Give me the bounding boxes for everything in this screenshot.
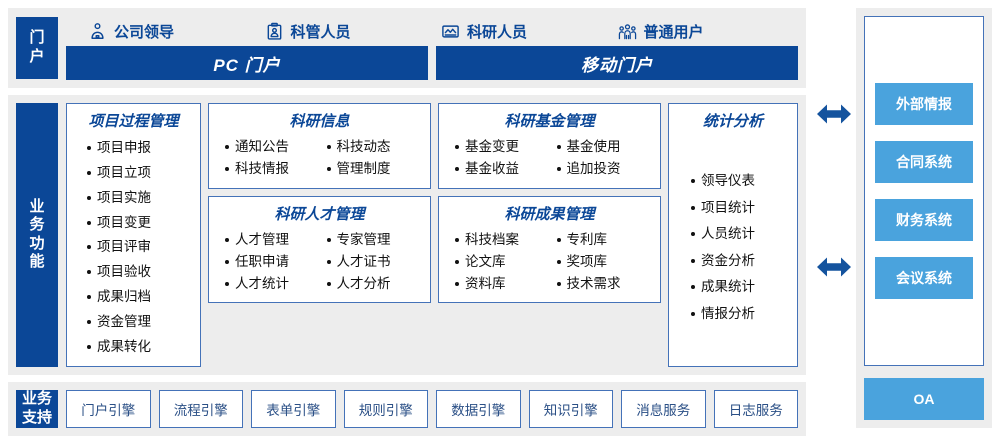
- list-item-label: 基金使用: [567, 137, 621, 157]
- external-system-contract[interactable]: 合同系统: [875, 141, 973, 183]
- main-architecture-column: 门户 公司领导: [0, 0, 812, 436]
- bullet-icon: [87, 171, 91, 175]
- list-item[interactable]: 领导仪表: [691, 174, 791, 188]
- list-item[interactable]: 科技动态: [327, 137, 425, 157]
- portal-bar-mobile[interactable]: 移动门户: [436, 46, 798, 80]
- external-system-oa[interactable]: OA: [864, 378, 984, 420]
- list-item-label: 技术需求: [567, 274, 621, 294]
- card-project-process-management[interactable]: 项目过程管理 项目申报 项目立项 项目实施 项目变更 项目评审 项目验收 成果归…: [66, 103, 201, 367]
- connector-column: [812, 0, 856, 436]
- list-item-label: 追加投资: [567, 159, 621, 179]
- card-item-list: 通知公告 科技动态 科技情报 管理制度: [215, 137, 424, 180]
- role-general-user-label: 普通用户: [644, 21, 704, 42]
- list-item[interactable]: 奖项库: [557, 252, 655, 272]
- bullet-icon: [87, 221, 91, 225]
- external-systems-column: 外部情报 合同系统 财务系统 会议系统 OA: [856, 0, 1000, 436]
- list-item[interactable]: 人才分析: [327, 274, 425, 294]
- bullet-icon: [327, 282, 331, 286]
- list-item-label: 成果统计: [701, 280, 755, 294]
- role-research-admin[interactable]: 科管人员: [265, 21, 442, 42]
- business-support-band-label-text: 业务支持: [20, 390, 54, 427]
- external-systems-box: 外部情报 合同系统 财务系统 会议系统: [864, 16, 984, 366]
- list-item-label: 项目统计: [701, 201, 755, 215]
- bullet-icon: [557, 238, 561, 242]
- bullet-icon: [225, 282, 229, 286]
- list-item-label: 项目立项: [97, 162, 151, 184]
- bullet-icon: [225, 167, 229, 171]
- bullet-icon: [691, 312, 695, 316]
- list-item-label: 情报分析: [701, 307, 755, 321]
- card-statistical-analysis[interactable]: 统计分析 领导仪表 项目统计 人员统计 资金分析 成果统计 情报分析: [668, 103, 798, 367]
- role-company-leader[interactable]: 公司领导: [88, 21, 265, 42]
- function-column-info-talent: 科研信息 通知公告 科技动态 科技情报 管理制度 科研人才管理 人才管理 专家管…: [208, 103, 431, 367]
- list-item[interactable]: 项目申报: [87, 137, 194, 159]
- portal-bar-pc[interactable]: PC 门户: [66, 46, 428, 80]
- card-research-fund-management[interactable]: 科研基金管理 基金变更 基金使用 基金收益 追加投资: [438, 103, 661, 189]
- bullet-icon: [87, 320, 91, 324]
- service-message[interactable]: 消息服务: [621, 390, 706, 428]
- architecture-diagram: 门户 公司领导: [0, 0, 1000, 436]
- card-item-list: 人才管理 专家管理 任职申请 人才证书 人才统计 人才分析: [215, 230, 424, 295]
- portal-band-content: 公司领导 科管人员: [66, 16, 798, 80]
- service-log[interactable]: 日志服务: [714, 390, 799, 428]
- card-item-list: 项目申报 项目立项 项目实施 项目变更 项目评审 项目验收 成果归档 资金管理 …: [73, 137, 194, 358]
- list-item[interactable]: 技术需求: [557, 274, 655, 294]
- bullet-icon: [691, 285, 695, 289]
- business-function-band: 业务功能 项目过程管理 项目申报 项目立项 项目实施 项目变更 项目评审 项目验…: [8, 95, 806, 375]
- role-research-admin-label: 科管人员: [291, 21, 351, 42]
- list-item-label: 项目变更: [97, 212, 151, 234]
- role-researcher-label: 科研人员: [467, 21, 527, 42]
- user-bust-icon: [88, 22, 107, 41]
- list-item[interactable]: 人才统计: [225, 274, 323, 294]
- list-item-label: 成果归档: [97, 286, 151, 308]
- list-item-label: 项目实施: [97, 187, 151, 209]
- list-item-label: 科技动态: [337, 137, 391, 157]
- list-item-label: 管理制度: [337, 159, 391, 179]
- portal-bar-row: PC 门户 移动门户: [66, 46, 798, 80]
- double-arrow-horizontal-icon: [815, 101, 853, 127]
- bullet-icon: [327, 167, 331, 171]
- bullet-icon: [225, 145, 229, 149]
- list-item[interactable]: 人才证书: [327, 252, 425, 272]
- list-item[interactable]: 管理制度: [327, 159, 425, 179]
- external-system-meeting[interactable]: 会议系统: [875, 257, 973, 299]
- list-item-label: 资金分析: [701, 254, 755, 268]
- list-item-label: 人才统计: [235, 274, 289, 294]
- list-item[interactable]: 通知公告: [225, 137, 323, 157]
- business-function-band-label: 业务功能: [16, 103, 58, 367]
- double-arrow-horizontal-icon: [815, 254, 853, 280]
- portal-band: 门户 公司领导: [8, 8, 806, 88]
- bullet-icon: [691, 232, 695, 236]
- list-item-label: 人才分析: [337, 274, 391, 294]
- bullet-icon: [691, 259, 695, 263]
- list-item[interactable]: 成果归档: [87, 286, 194, 308]
- bullet-icon: [455, 145, 459, 149]
- business-support-content: 门户引擎 流程引擎 表单引擎 规则引擎 数据引擎 知识引擎 消息服务 日志服务: [66, 390, 798, 428]
- list-item-label: 人才证书: [337, 252, 391, 272]
- bullet-icon: [225, 238, 229, 242]
- list-item-label: 资料库: [465, 274, 506, 294]
- list-item[interactable]: 追加投资: [557, 159, 655, 179]
- engine-knowledge[interactable]: 知识引擎: [529, 390, 614, 428]
- card-item-list: 科技档案 专利库 论文库 奖项库 资料库 技术需求: [445, 230, 654, 295]
- list-item[interactable]: 基金使用: [557, 137, 655, 157]
- card-research-achievement-management[interactable]: 科研成果管理 科技档案 专利库 论文库 奖项库 资料库 技术需求: [438, 196, 661, 304]
- user-group-icon: [618, 22, 637, 41]
- list-item[interactable]: 项目验收: [87, 261, 194, 283]
- external-system-finance[interactable]: 财务系统: [875, 199, 973, 241]
- bullet-icon: [691, 179, 695, 183]
- list-item[interactable]: 成果转化: [87, 336, 194, 358]
- bullet-icon: [557, 167, 561, 171]
- list-item[interactable]: 项目统计: [691, 201, 791, 215]
- bullet-icon: [87, 196, 91, 200]
- role-general-user[interactable]: 普通用户: [618, 21, 795, 42]
- bullet-icon: [455, 282, 459, 286]
- bullet-icon: [327, 260, 331, 264]
- business-support-band: 业务支持 门户引擎 流程引擎 表单引擎 规则引擎 数据引擎 知识引擎 消息服务 …: [8, 382, 806, 436]
- list-item[interactable]: 项目评审: [87, 236, 194, 258]
- list-item-label: 项目评审: [97, 236, 151, 258]
- list-item[interactable]: 基金变更: [455, 137, 553, 157]
- business-function-content: 项目过程管理 项目申报 项目立项 项目实施 项目变更 项目评审 项目验收 成果归…: [66, 103, 798, 367]
- function-column-fund-result: 科研基金管理 基金变更 基金使用 基金收益 追加投资 科研成果管理 科技档案 专…: [438, 103, 661, 367]
- list-item-label: 成果转化: [97, 336, 151, 358]
- list-item[interactable]: 人才管理: [225, 230, 323, 250]
- bullet-icon: [455, 167, 459, 171]
- list-item[interactable]: 论文库: [455, 252, 553, 272]
- engine-form[interactable]: 表单引擎: [251, 390, 336, 428]
- list-item[interactable]: 项目立项: [87, 162, 194, 184]
- bullet-icon: [557, 145, 561, 149]
- card-title: 科研基金管理: [445, 113, 654, 131]
- portal-band-label: 门户: [16, 17, 58, 79]
- bullet-icon: [455, 260, 459, 264]
- list-item[interactable]: 基金收益: [455, 159, 553, 179]
- list-item-label: 基金收益: [465, 159, 519, 179]
- bullet-icon: [557, 260, 561, 264]
- list-item-label: 基金变更: [465, 137, 519, 157]
- card-title: 项目过程管理: [73, 113, 194, 131]
- bullet-icon: [455, 238, 459, 242]
- list-item[interactable]: 专利库: [557, 230, 655, 250]
- list-item-label: 专利库: [567, 230, 608, 250]
- bullet-icon: [87, 295, 91, 299]
- list-item[interactable]: 科技档案: [455, 230, 553, 250]
- card-research-information[interactable]: 科研信息 通知公告 科技动态 科技情报 管理制度: [208, 103, 431, 189]
- role-researcher[interactable]: 科研人员: [441, 21, 618, 42]
- card-research-talent-management[interactable]: 科研人才管理 人才管理 专家管理 任职申请 人才证书 人才统计 人才分析: [208, 196, 431, 304]
- bullet-icon: [87, 245, 91, 249]
- list-item[interactable]: 资料库: [455, 274, 553, 294]
- portal-role-row: 公司领导 科管人员: [66, 16, 798, 46]
- list-item[interactable]: 科技情报: [225, 159, 323, 179]
- list-item-label: 专家管理: [337, 230, 391, 250]
- bullet-icon: [327, 145, 331, 149]
- list-item-label: 项目验收: [97, 261, 151, 283]
- list-item-label: 科技档案: [465, 230, 519, 250]
- function-column-process: 项目过程管理 项目申报 项目立项 项目实施 项目变更 项目评审 项目验收 成果归…: [66, 103, 201, 367]
- card-title: 科研人才管理: [215, 206, 424, 224]
- list-item-label: 科技情报: [235, 159, 289, 179]
- list-item[interactable]: 资金管理: [87, 311, 194, 333]
- list-item[interactable]: 任职申请: [225, 252, 323, 272]
- business-support-band-label: 业务支持: [16, 390, 58, 428]
- card-item-list: 领导仪表 项目统计 人员统计 资金分析 成果统计 情报分析: [675, 137, 791, 358]
- card-item-list: 基金变更 基金使用 基金收益 追加投资: [445, 137, 654, 180]
- list-item-label: 论文库: [465, 252, 506, 272]
- role-company-leader-label: 公司领导: [114, 21, 174, 42]
- list-item-label: 奖项库: [567, 252, 608, 272]
- external-system-intelligence[interactable]: 外部情报: [875, 83, 973, 125]
- bullet-icon: [557, 282, 561, 286]
- list-item[interactable]: 资金分析: [691, 254, 791, 268]
- list-item-label: 资金管理: [97, 311, 151, 333]
- chart-monitor-icon: [441, 22, 460, 41]
- list-item[interactable]: 项目实施: [87, 187, 194, 209]
- list-item[interactable]: 项目变更: [87, 212, 194, 234]
- engine-rule[interactable]: 规则引擎: [344, 390, 429, 428]
- business-function-band-label-text: 业务功能: [29, 198, 46, 272]
- list-item-label: 人才管理: [235, 230, 289, 250]
- card-title: 科研成果管理: [445, 206, 654, 224]
- list-item[interactable]: 专家管理: [327, 230, 425, 250]
- bullet-icon: [225, 260, 229, 264]
- portal-band-label-text: 门户: [29, 29, 46, 66]
- bullet-icon: [87, 345, 91, 349]
- list-item[interactable]: 成果统计: [691, 280, 791, 294]
- list-item-label: 人员统计: [701, 227, 755, 241]
- card-title: 科研信息: [215, 113, 424, 131]
- id-badge-icon: [265, 22, 284, 41]
- function-column-statistics: 统计分析 领导仪表 项目统计 人员统计 资金分析 成果统计 情报分析: [668, 103, 798, 367]
- bullet-icon: [691, 206, 695, 210]
- engine-data[interactable]: 数据引擎: [436, 390, 521, 428]
- engine-portal[interactable]: 门户引擎: [66, 390, 151, 428]
- list-item[interactable]: 情报分析: [691, 307, 791, 321]
- list-item[interactable]: 人员统计: [691, 227, 791, 241]
- bullet-icon: [87, 270, 91, 274]
- engine-workflow[interactable]: 流程引擎: [159, 390, 244, 428]
- list-item-label: 任职申请: [235, 252, 289, 272]
- card-title: 统计分析: [675, 113, 791, 131]
- list-item-label: 项目申报: [97, 137, 151, 159]
- list-item-label: 领导仪表: [701, 174, 755, 188]
- external-systems-shell: 外部情报 合同系统 财务系统 会议系统 OA: [856, 8, 992, 428]
- list-item-label: 通知公告: [235, 137, 289, 157]
- bullet-icon: [87, 146, 91, 150]
- bullet-icon: [327, 238, 331, 242]
